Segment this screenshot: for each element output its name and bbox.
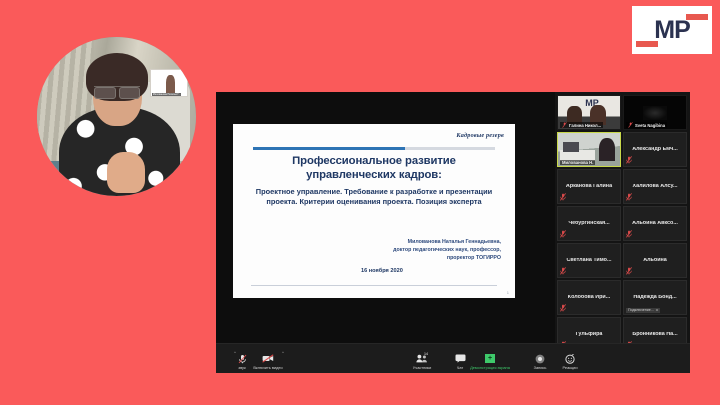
audio-chevron-up-icon[interactable]: ^	[234, 351, 236, 355]
participant-name: Чебургинская...	[566, 221, 611, 227]
participant-name: Колобова Ири...	[566, 295, 612, 301]
mic-muted-icon	[626, 193, 632, 201]
participant-tile[interactable]: Sveta Nagibina	[623, 95, 687, 130]
participant-name: Надежда Бонд...	[631, 295, 678, 301]
mic-muted-icon	[560, 230, 566, 238]
photo-chair	[563, 142, 579, 152]
logo-accent-bar-bottom	[636, 41, 658, 47]
slide-title: Профессиональное развитие управленческих…	[251, 154, 497, 183]
avatar: Милованова Наталья Г...	[37, 37, 196, 196]
participants-label: Участники	[413, 365, 432, 370]
mic-muted-icon	[626, 230, 632, 238]
avatar-pip-label: Милованова Наталья Г...	[152, 93, 182, 96]
zoom-toolbar: звук ^ Включить видео ^	[216, 343, 690, 373]
screenshot-root: MP Милованова Наталья Г... Кадровые резе…	[0, 0, 720, 405]
slide-footer-rule	[251, 285, 497, 286]
slide-divider	[253, 147, 495, 150]
participant-name: Sveta Nagibina	[626, 122, 667, 128]
reactions-button[interactable]: Реакции	[546, 353, 594, 370]
participant-tile[interactable]: Чебургинская...	[557, 206, 621, 241]
participant-name: Гульфира	[574, 332, 605, 338]
participant-name: Светлана Тимо...	[565, 258, 614, 264]
participant-tile[interactable]: Колобова Ири...	[557, 280, 621, 315]
slide-date: 16 ноября 2020	[361, 268, 403, 274]
slide-kicker: Кадровые резерв	[456, 132, 504, 139]
slide-author-line-2: доктор педагогических наук, профессор,	[321, 247, 501, 255]
slide-page-number: 1	[507, 290, 509, 295]
participant-name: Халилова Алсу...	[631, 184, 680, 190]
participant-tile[interactable]: Милованова Н.	[557, 132, 621, 167]
participant-tile[interactable]: Арканова Галина	[557, 169, 621, 204]
video-chevron-up-icon[interactable]: ^	[282, 351, 284, 355]
avatar-glasses	[94, 86, 140, 97]
mic-muted-icon	[560, 304, 566, 312]
shared-screen-area: Кадровые резерв Профессиональное развити…	[216, 92, 555, 343]
participant-name: Галина Никол...	[560, 122, 603, 128]
participant-name: Арканова Галина	[564, 184, 614, 190]
start-video-button[interactable]: Включить видео	[244, 353, 292, 370]
slide-subtitle: Проектное управление. Требование к разра…	[249, 187, 499, 207]
participant-tile[interactable]: MPГалина Никол...	[557, 95, 621, 130]
mic-muted-icon	[626, 156, 632, 164]
participant-name: Бронникова На...	[630, 332, 679, 338]
participant-status: Подключение...••	[626, 308, 660, 313]
participant-name: Александр Емч...	[630, 147, 680, 153]
participant-thumbnail-strip[interactable]: MPГалина Никол...Sveta NagibinaМилованов…	[555, 92, 690, 343]
share-screen-icon: +	[485, 353, 495, 364]
zoom-meeting-window: Кадровые резерв Профессиональное развити…	[216, 92, 690, 373]
reactions-smiley-icon	[565, 353, 575, 364]
participant-name: Милованова Н.	[560, 160, 595, 165]
mic-muted-icon	[560, 267, 566, 275]
avatar-hand	[107, 152, 145, 193]
participant-tile[interactable]: Альбина	[623, 243, 687, 278]
record-label: Запись	[534, 365, 547, 370]
avatar-pip-person	[166, 75, 175, 94]
share-screen-label: Демонстрация экрана	[470, 365, 510, 370]
start-video-label: Включить видео	[253, 365, 282, 370]
chat-label: Чат	[457, 365, 463, 370]
participant-name: Альбина	[641, 258, 669, 264]
slide-divider-fill	[253, 147, 405, 150]
brand-logo: MP	[632, 6, 712, 54]
participants-count-badge: 14	[424, 352, 428, 356]
participant-name: Альбина Авксо...	[630, 221, 680, 227]
avatar-picture-in-picture: Милованова Наталья Г...	[150, 69, 188, 98]
participant-tile[interactable]: Халилова Алсу...	[623, 169, 687, 204]
logo-accent-bar-top	[686, 14, 708, 20]
slide-author-line-1: Милованова Наталья Геннадьевна,	[321, 239, 501, 247]
slide-author: Милованова Наталья Геннадьевна, доктор п…	[321, 239, 501, 262]
presentation-slide: Кадровые резерв Профессиональное развити…	[233, 124, 515, 298]
record-icon	[535, 353, 545, 364]
participant-tile[interactable]: Светлана Тимо...	[557, 243, 621, 278]
mic-muted-icon	[626, 267, 632, 275]
photo-dim-glow	[643, 106, 668, 121]
participant-tile[interactable]: Александр Емч...	[623, 132, 687, 167]
mic-muted-icon	[560, 193, 566, 201]
slide-author-line-3: проректор ТОГИРРО	[321, 255, 501, 263]
reactions-label: Реакции	[562, 365, 577, 370]
chat-icon	[455, 353, 466, 364]
camera-off-icon	[262, 353, 274, 364]
participant-tile[interactable]: Альбина Авксо...	[623, 206, 687, 241]
share-screen-button[interactable]: + Демонстрация экрана	[466, 353, 514, 370]
logo-text: MP	[654, 18, 690, 43]
participants-icon: 14	[416, 353, 429, 364]
participant-tile[interactable]: Надежда Бонд...Подключение...••	[623, 280, 687, 315]
photo-person	[599, 138, 615, 161]
